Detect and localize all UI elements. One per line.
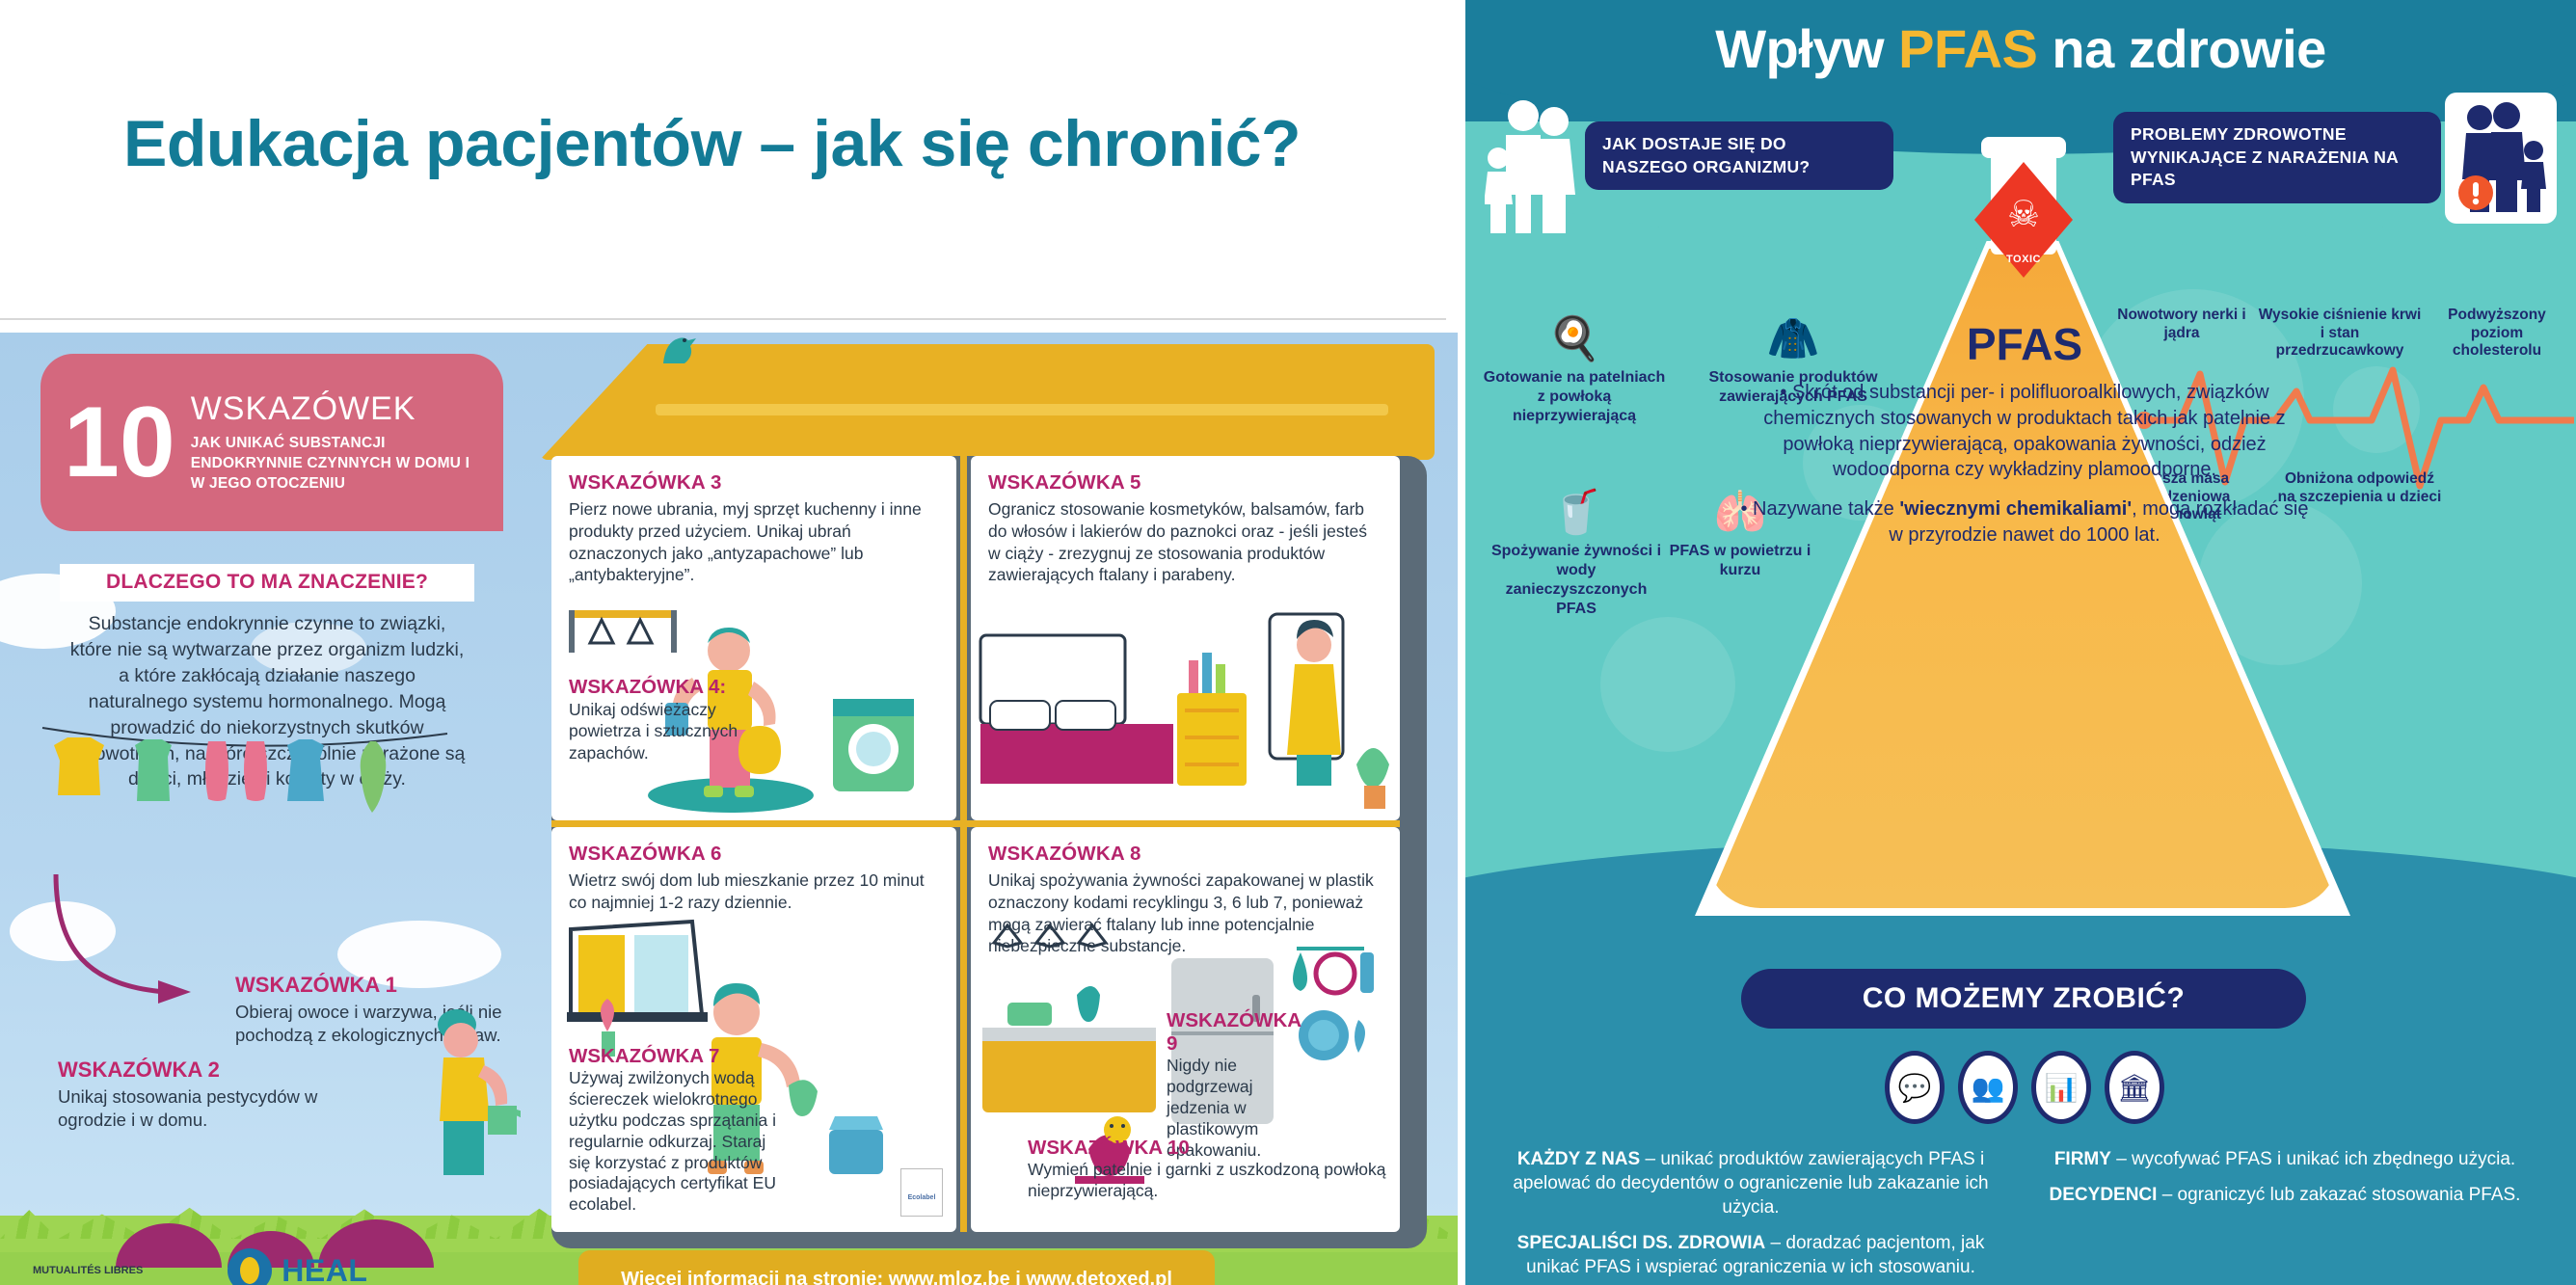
logo-row: MUTUALITÉS LIBRES HEAL bbox=[33, 1248, 367, 1285]
cta-title-pill: CO MOŻEMY ZROBIĆ? bbox=[1741, 969, 2306, 1029]
tips-count-badge: 10 WSKAZÓWEK JAK UNIKAĆ SUBSTANCJI ENDOK… bbox=[40, 354, 503, 531]
tips-count-subheading: JAK UNIKAĆ SUBSTANCJI ENDOKRYNNIE CZYNNY… bbox=[191, 434, 480, 495]
tip-10: WSKAZÓWKA 10 Wymień patelnie i garnki z … bbox=[1028, 1137, 1394, 1202]
house-body: WSKAZÓWKA 3 Pierz nowe ubrania, myj sprz… bbox=[551, 456, 1427, 1248]
flask-text-block: PFAS • Skrót od substancji per- i polifl… bbox=[1735, 318, 2314, 562]
cta-icon-row: 💬 👥 📊 🏛 bbox=[1755, 1051, 2294, 1124]
frying-pan-icon: 🍳 bbox=[1483, 318, 1666, 361]
toxic-label: TOXIC bbox=[1974, 254, 2073, 265]
nav-pill-exposure[interactable]: JAK DOSTAJE SIĘ DO NASZEGO ORGANIZMU? bbox=[1585, 121, 1893, 190]
ecolabel-icon: Ecolabel bbox=[900, 1168, 943, 1217]
tip-4-title: WSKAZÓWKA 4: bbox=[569, 676, 771, 699]
why-it-matters-title: DLACZEGO TO MA ZNACZENIE? bbox=[60, 564, 474, 602]
bedroom-scene-illustration bbox=[975, 601, 1399, 817]
tip-3-body: Pierz nowe ubrania, myj sprzęt kuchenny … bbox=[569, 498, 939, 586]
tip-6-body: Wietrz swój dom lub mieszkanie przez 10 … bbox=[569, 870, 939, 914]
advice-right-2-bold: DECYDENCI bbox=[2050, 1185, 2158, 1205]
tip-9-title: WSKAZÓWKA 9 bbox=[1167, 1009, 1317, 1056]
divider-horizontal-1 bbox=[551, 820, 1400, 827]
left-infographic: 10 WSKAZÓWEK JAK UNIKAĆ SUBSTANCJI ENDOK… bbox=[0, 333, 1458, 1285]
tip-7-title: WSKAZÓWKA 7 bbox=[569, 1045, 779, 1068]
tip-6: WSKAZÓWKA 6 Wietrz swój dom lub mieszkan… bbox=[551, 827, 956, 1232]
tip-8-title: WSKAZÓWKA 8 bbox=[988, 843, 1382, 866]
title-divider bbox=[0, 318, 1446, 320]
page-title: Edukacja pacjentów – jak się chronić? bbox=[123, 104, 1338, 184]
tip-3-title: WSKAZÓWKA 3 bbox=[569, 471, 939, 495]
tip-3: WSKAZÓWKA 3 Pierz nowe ubrania, myj sprz… bbox=[551, 456, 956, 820]
gardener-illustration bbox=[405, 998, 521, 1191]
tips-count-number: 10 bbox=[64, 400, 175, 485]
laundry-line-illustration bbox=[39, 718, 453, 863]
advice-left-1-bold: KAŻDY Z NAS bbox=[1517, 1149, 1640, 1169]
heal-logo-label: HEAL bbox=[282, 1253, 367, 1285]
flask-bullet-1: • Skrót od substancji per- i polifluoroa… bbox=[1735, 380, 2314, 483]
slide-root: Edukacja pacjentów – jak się chronić? 10… bbox=[0, 0, 2576, 1285]
government-building-icon[interactable]: 🏛 bbox=[2105, 1051, 2164, 1124]
advice-right-2-text: – ograniczyć lub zakazać stosowania PFAS… bbox=[2157, 1185, 2520, 1205]
tip-2: WSKAZÓWKA 2 Unikaj stosowania pestycydów… bbox=[58, 1057, 347, 1132]
pfas-title-highlight: PFAS bbox=[1898, 18, 2037, 79]
pfas-infographic: Wpływ PFAS na zdrowie JAK DOSTAJE SIĘ DO… bbox=[1465, 0, 2576, 1285]
family-alert-card bbox=[2445, 93, 2557, 224]
pfas-title-part1: Wpływ bbox=[1715, 18, 1898, 79]
house-illustration: WSKAZÓWKA 3 Pierz nowe ubrania, myj sprz… bbox=[540, 333, 1435, 1285]
person-speech-bubble-icon[interactable]: 💬 bbox=[1885, 1051, 1945, 1124]
family-alert-icon bbox=[2453, 100, 2549, 216]
group-people-icon[interactable]: 👥 bbox=[1958, 1051, 2018, 1124]
tip-10-body: Wymień patelnie i garnki z uszkodzoną po… bbox=[1028, 1160, 1394, 1202]
divider-vertical-1 bbox=[960, 456, 967, 820]
exposure-route-3-label: Spożywanie żywności i wody zanieczyszczo… bbox=[1491, 543, 1661, 617]
heal-logo-mark bbox=[228, 1248, 272, 1285]
flask-pfas-word: PFAS bbox=[1735, 318, 2314, 370]
curved-arrow-icon bbox=[50, 872, 233, 1007]
pfas-title: Wpływ PFAS na zdrowie bbox=[1465, 17, 2576, 80]
advice-left-1: KAŻDY Z NAS – unikać produktów zawierają… bbox=[1500, 1147, 2001, 1219]
advice-column-left: KAŻDY Z NAS – unikać produktów zawierają… bbox=[1500, 1147, 2001, 1285]
health-problem-3: Podwyższony poziom cholesterolu bbox=[2429, 307, 2564, 361]
flask-bullet-2-pre: • Nazywane także bbox=[1740, 498, 1899, 520]
presenter-chart-icon[interactable]: 📊 bbox=[2031, 1051, 2091, 1124]
roof-ridge bbox=[656, 404, 1388, 415]
advice-left-2: SPECJALIŚCI DS. ZDROWIA – doradzać pacje… bbox=[1500, 1231, 2001, 1279]
pfas-title-part2: na zdrowie bbox=[2037, 18, 2325, 79]
toxic-warning-icon: ☠ TOXIC bbox=[1974, 162, 2073, 278]
tip-1-title: WSKAZÓWKA 1 bbox=[235, 973, 524, 998]
flask-bullet-2: • Nazywane także 'wiecznymi chemikaliami… bbox=[1735, 496, 2314, 549]
advice-right-1-bold: FIRMY bbox=[2054, 1149, 2111, 1169]
drinking-person-icon: 🥤 bbox=[1485, 492, 1668, 534]
nav-pill-health[interactable]: PROBLEMY ZDROWOTNE WYNIKAJĄCE Z NARAŻENI… bbox=[2113, 112, 2441, 203]
advice-left-2-bold: SPECJALIŚCI DS. ZDROWIA bbox=[1517, 1233, 1766, 1253]
advice-right-2: DECYDENCI – ograniczyć lub zakazać stoso… bbox=[2044, 1183, 2526, 1207]
flask-bullet-2-bold: 'wiecznymi chemikaliami' bbox=[1899, 498, 2132, 520]
exposure-route-1-label: Gotowanie na patelniach z powłoką nieprz… bbox=[1484, 369, 1665, 424]
bird-icon bbox=[654, 333, 700, 369]
advice-right-1-text: – wycofywać PFAS i unikać ich zbędnego u… bbox=[2111, 1149, 2515, 1169]
advice-right-1: FIRMY – wycofywać PFAS i unikać ich zbęd… bbox=[2044, 1147, 2526, 1171]
tip-2-title: WSKAZÓWKA 2 bbox=[58, 1057, 347, 1083]
tip-5: WSKAZÓWKA 5 Ogranicz stosowanie kosmetyk… bbox=[971, 456, 1400, 820]
tip-10-title: WSKAZÓWKA 10 bbox=[1028, 1137, 1394, 1160]
tip-6-title: WSKAZÓWKA 6 bbox=[569, 843, 939, 866]
tip-2-body: Unikaj stosowania pestycydów w ogrodzie … bbox=[58, 1085, 347, 1132]
divider-vertical-2 bbox=[960, 827, 967, 1232]
tip-7: WSKAZÓWKA 7 Używaj zwilżonych wodą ścier… bbox=[569, 1045, 779, 1216]
ecolabel-text: Ecolabel bbox=[908, 1194, 936, 1201]
exposure-route-1: 🍳 Gotowanie na patelniach z powłoką niep… bbox=[1483, 318, 1666, 426]
mutualites-libres-logo: MUTUALITÉS LIBRES bbox=[33, 1265, 143, 1277]
tip-4: WSKAZÓWKA 4: Unikaj odświeżaczy powietrz… bbox=[569, 676, 771, 763]
flask-lip bbox=[1981, 137, 2066, 158]
tip-4-body: Unikaj odświeżaczy powietrza i sztucznyc… bbox=[569, 699, 771, 763]
more-info-banner: Więcej informacji na stronie: www.mloz.b… bbox=[578, 1250, 1215, 1285]
exposure-route-3: 🥤 Spożywanie żywności i wody zanieczyszc… bbox=[1485, 492, 1668, 619]
tip-5-body: Ogranicz stosowanie kosmetyków, balsamów… bbox=[988, 498, 1382, 586]
skull-and-crossbones-icon: ☠ bbox=[1974, 197, 2073, 233]
mutualites-libres-label: MUTUALITÉS LIBRES bbox=[33, 1265, 143, 1276]
heal-logo: HEAL bbox=[228, 1248, 367, 1285]
advice-column-right: FIRMY – wycofywać PFAS i unikać ich zbęd… bbox=[2044, 1147, 2526, 1218]
tip-5-title: WSKAZÓWKA 5 bbox=[988, 471, 1382, 495]
tips-count-heading: WSKAZÓWEK bbox=[191, 390, 480, 428]
tip-7-body: Używaj zwilżonych wodą ściereczek wielok… bbox=[569, 1068, 779, 1216]
bubble-decoration bbox=[1600, 617, 1735, 752]
